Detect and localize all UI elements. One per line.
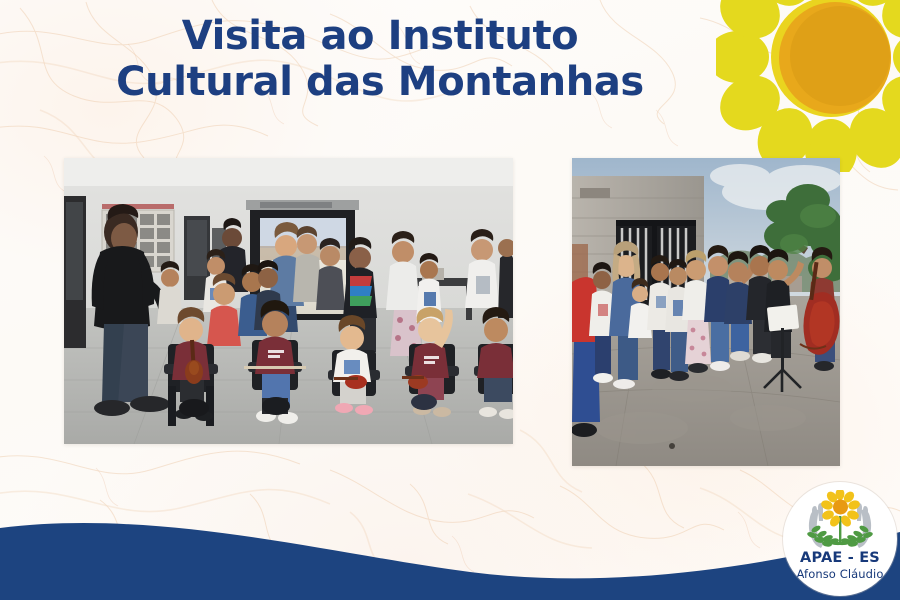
poster-canvas: Visita ao Instituto Cultural das Montanh… bbox=[0, 0, 900, 600]
photo-indoor-music-workshop bbox=[64, 158, 513, 444]
title-line-2: Cultural das Montanhas bbox=[0, 60, 760, 106]
logo-subtitle: Afonso Cláudio bbox=[783, 567, 897, 581]
logo-title: APAE - ES bbox=[783, 550, 897, 566]
apae-es-logo: APAE - ES Afonso Cláudio bbox=[783, 482, 897, 596]
photo-outdoor-group-performance bbox=[572, 158, 840, 466]
logo-text-block: APAE - ES Afonso Cláudio bbox=[783, 550, 897, 581]
title-line-1: Visita ao Instituto bbox=[0, 14, 760, 60]
logo-circle-badge: APAE - ES Afonso Cláudio bbox=[783, 482, 897, 596]
sunflower-hands-leaves-icon bbox=[799, 490, 881, 552]
page-title: Visita ao Instituto Cultural das Montanh… bbox=[0, 14, 760, 105]
bottom-wave-shape bbox=[0, 510, 900, 600]
